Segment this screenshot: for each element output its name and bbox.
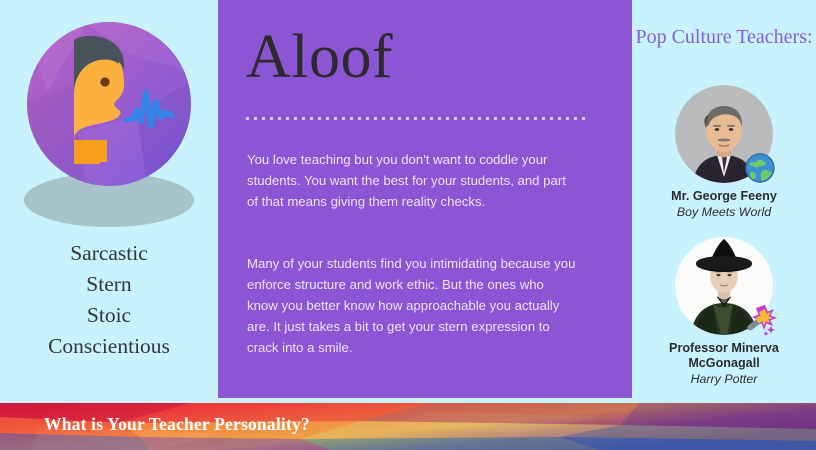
description-panel: Aloof You love teaching but you don't wa… (218, 0, 632, 398)
trait-item: Conscientious (0, 331, 218, 362)
pop-culture-panel: Pop Culture Teachers: (632, 0, 816, 398)
magic-wand-icon (743, 303, 777, 337)
teacher-card: Mr. George Feeny Boy Meets World (632, 85, 816, 220)
speaking-profile-illustration (27, 22, 191, 186)
avatar (675, 237, 773, 335)
personality-title: Aloof (246, 22, 393, 92)
teacher-source: Boy Meets World (632, 204, 816, 220)
dotted-divider (246, 117, 586, 120)
teacher-source: Harry Potter (632, 371, 816, 387)
teacher-name: Mr. George Feeny (632, 189, 816, 204)
teacher-personality-infographic: Sarcastic Stern Stoic Conscientious Aloo… (0, 0, 816, 450)
description-paragraph: Many of your students find you intimidat… (247, 253, 577, 358)
pop-culture-heading: Pop Culture Teachers: (632, 24, 816, 50)
trait-item: Stoic (0, 300, 218, 331)
teacher-name: Professor Minerva McGonagall (632, 341, 816, 371)
bottom-banner: What is Your Teacher Personality? (0, 403, 816, 450)
trait-list: Sarcastic Stern Stoic Conscientious (0, 238, 218, 362)
banner-title: What is Your Teacher Personality? (44, 414, 310, 435)
illustration-container (0, 18, 218, 228)
traits-panel: Sarcastic Stern Stoic Conscientious (0, 0, 218, 398)
trait-item: Stern (0, 269, 218, 300)
globe-icon (743, 151, 777, 185)
avatar (675, 85, 773, 183)
teacher-card: Professor Minerva McGonagall Harry Potte… (632, 237, 816, 387)
trait-item: Sarcastic (0, 238, 218, 269)
description-paragraph: You love teaching but you don't want to … (247, 149, 577, 212)
